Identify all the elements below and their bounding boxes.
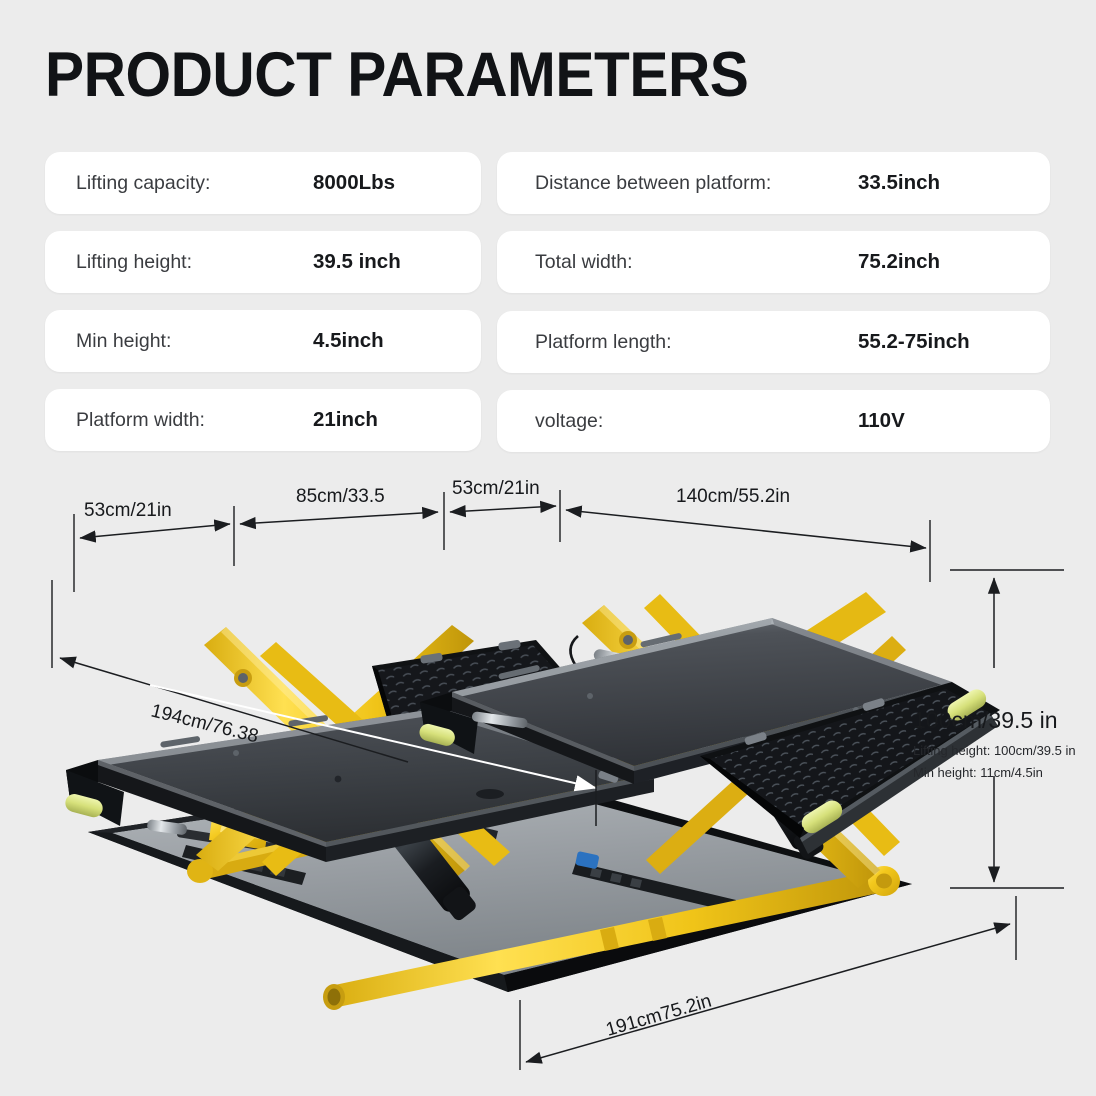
spec-value: 55.2-75inch xyxy=(858,330,970,354)
spec-label: Platform length: xyxy=(535,331,672,354)
product-dimension-diagram: 53cm/21in 85cm/33.5 53cm/21in 140cm/55.2… xyxy=(0,470,1096,1096)
spec-value: 110V xyxy=(858,409,905,433)
spec-label: Lifting capacity: xyxy=(76,172,210,195)
spec-label: Total width: xyxy=(535,251,633,274)
spec-value: 4.5inch xyxy=(313,329,384,353)
spec-value: 33.5inch xyxy=(858,171,940,195)
dimension-label: 53cm/21in xyxy=(84,500,172,521)
dimension-note: Lifting height: 100cm/39.5 in xyxy=(913,743,1076,758)
spec-label: voltage: xyxy=(535,410,603,433)
spec-card-voltage: voltage: 110V xyxy=(497,390,1050,452)
spec-value: 8000Lbs xyxy=(313,171,395,195)
dimension-headline: 100cm/39.5 in xyxy=(913,707,1057,733)
spec-value: 75.2inch xyxy=(858,250,940,274)
dimension-note: Min height: 11cm/4.5in xyxy=(913,765,1043,780)
dimension-label: 85cm/33.5 xyxy=(296,486,385,507)
spec-label: Platform width: xyxy=(76,409,205,432)
product-parameters-page: PRODUCT PARAMETERS Lifting capacity: 800… xyxy=(0,0,1096,1096)
spec-card-distance-between-platform: Distance between platform: 33.5inch xyxy=(497,152,1050,214)
page-title: PRODUCT PARAMETERS xyxy=(45,44,748,107)
spec-label: Lifting height: xyxy=(76,251,192,274)
spec-card-min-height: Min height: 4.5inch xyxy=(45,310,481,372)
spec-card-platform-width: Platform width: 21inch xyxy=(45,389,481,451)
spec-card-total-width: Total width: 75.2inch xyxy=(497,231,1050,293)
spec-value: 21inch xyxy=(313,408,378,432)
dimension-label: 140cm/55.2in xyxy=(676,486,790,507)
spec-label: Distance between platform: xyxy=(535,172,771,195)
spec-card-lifting-capacity: Lifting capacity: 8000Lbs xyxy=(45,152,481,214)
spec-card-platform-length: Platform length: 55.2-75inch xyxy=(497,311,1050,373)
spec-label: Min height: xyxy=(76,330,171,353)
dimension-label: 53cm/21in xyxy=(452,478,540,499)
spec-card-lifting-height: Lifting height: 39.5 inch xyxy=(45,231,481,293)
spec-value: 39.5 inch xyxy=(313,250,401,274)
